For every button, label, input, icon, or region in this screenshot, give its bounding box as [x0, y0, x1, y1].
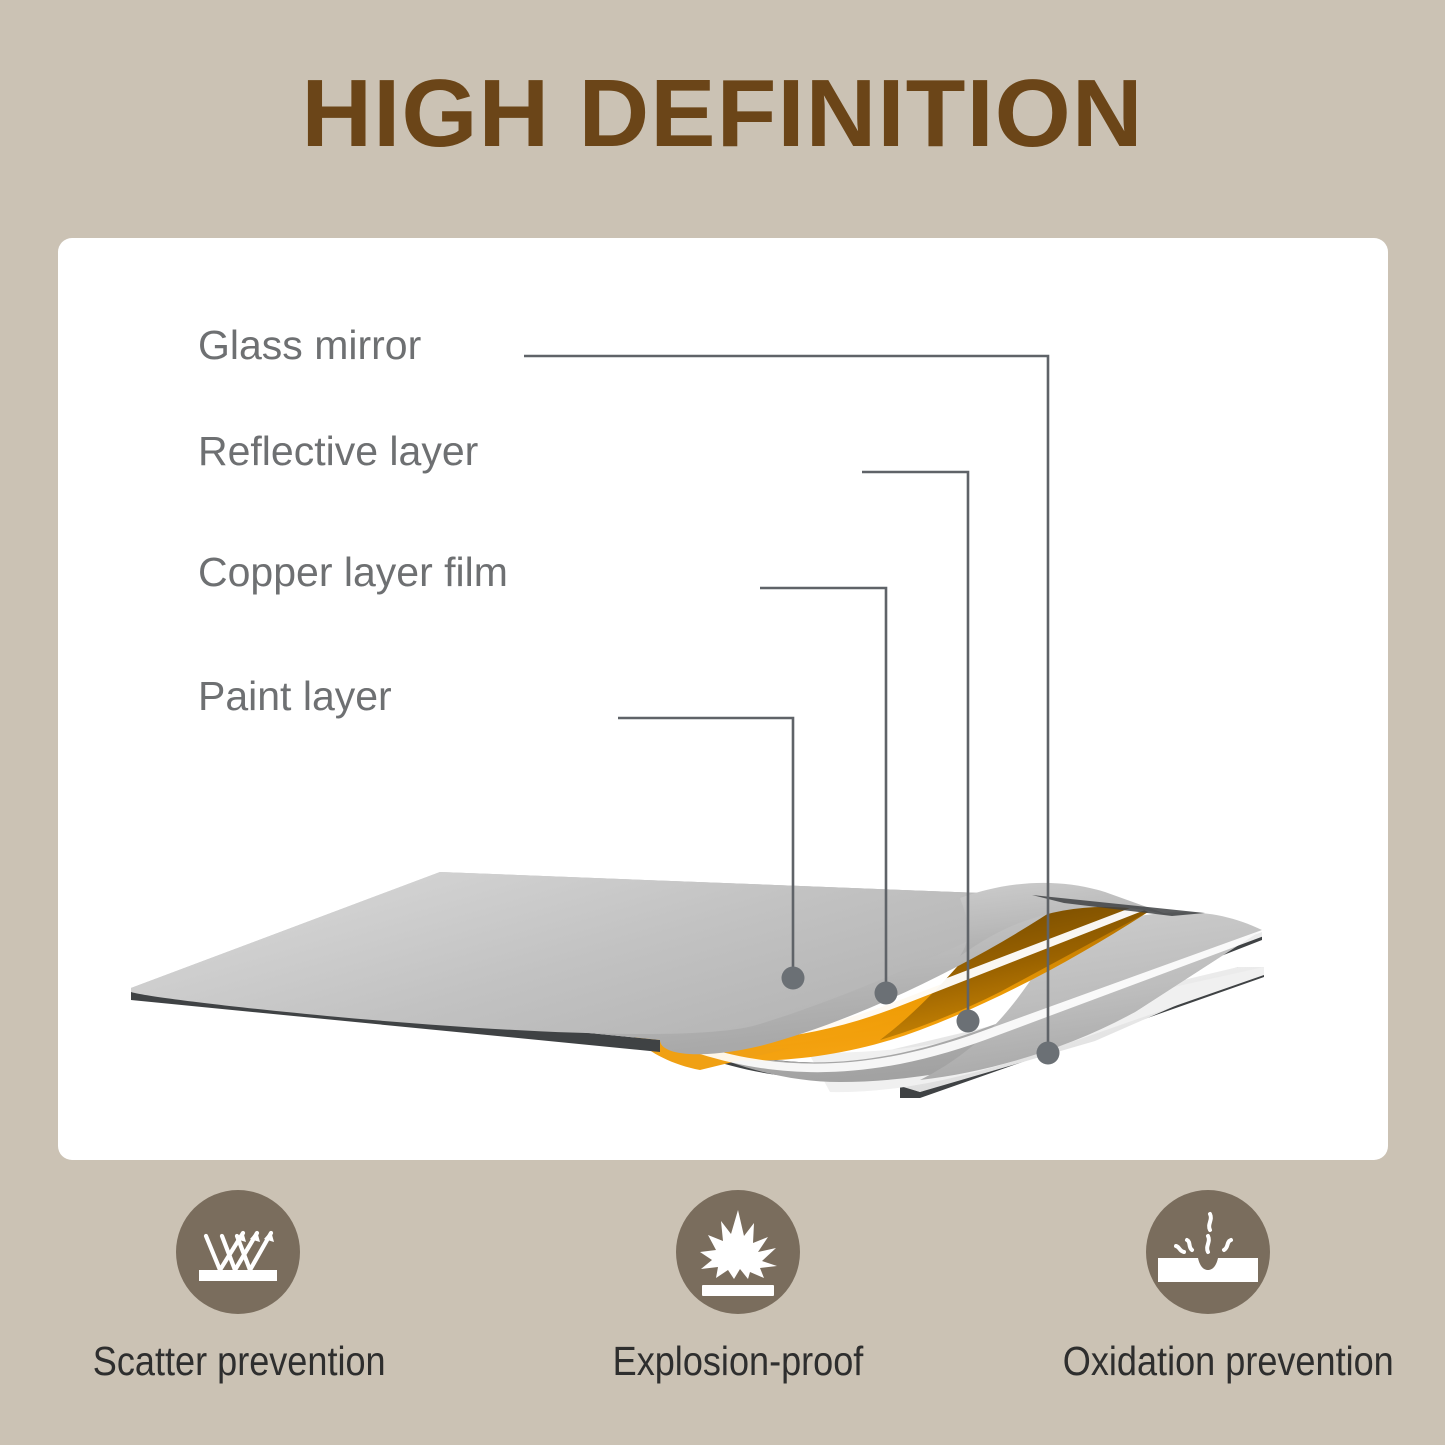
- layer-label-glass-mirror: Glass mirror: [198, 322, 421, 369]
- feature-scatter-prevention[interactable]: Scatter prevention: [73, 1190, 403, 1385]
- feature-icon-circle: [176, 1190, 300, 1314]
- feature-caption-explosion-proof: Explosion-proof: [593, 1338, 883, 1385]
- feature-caption-scatter-prevention: Scatter prevention: [93, 1338, 383, 1385]
- oxidation-fumes-icon: [1146, 1190, 1270, 1314]
- scatter-arrows-icon: [176, 1190, 300, 1314]
- feature-row: Scatter prevention Explosion-proof: [0, 1190, 1445, 1430]
- feature-oxidation-prevention[interactable]: Oxidation prevention: [1043, 1190, 1373, 1385]
- feature-icon-circle: [676, 1190, 800, 1314]
- feature-explosion-proof[interactable]: Explosion-proof: [573, 1190, 903, 1385]
- feature-icon-circle: [1146, 1190, 1270, 1314]
- layer-label-reflective-layer: Reflective layer: [198, 428, 478, 475]
- page-title: HIGH DEFINITION: [0, 66, 1445, 162]
- feature-caption-oxidation-prevention: Oxidation prevention: [1063, 1338, 1353, 1385]
- explosion-burst-icon: [676, 1190, 800, 1314]
- layer-label-paint-layer: Paint layer: [198, 673, 392, 720]
- layer-label-copper-layer-film: Copper layer film: [198, 549, 508, 596]
